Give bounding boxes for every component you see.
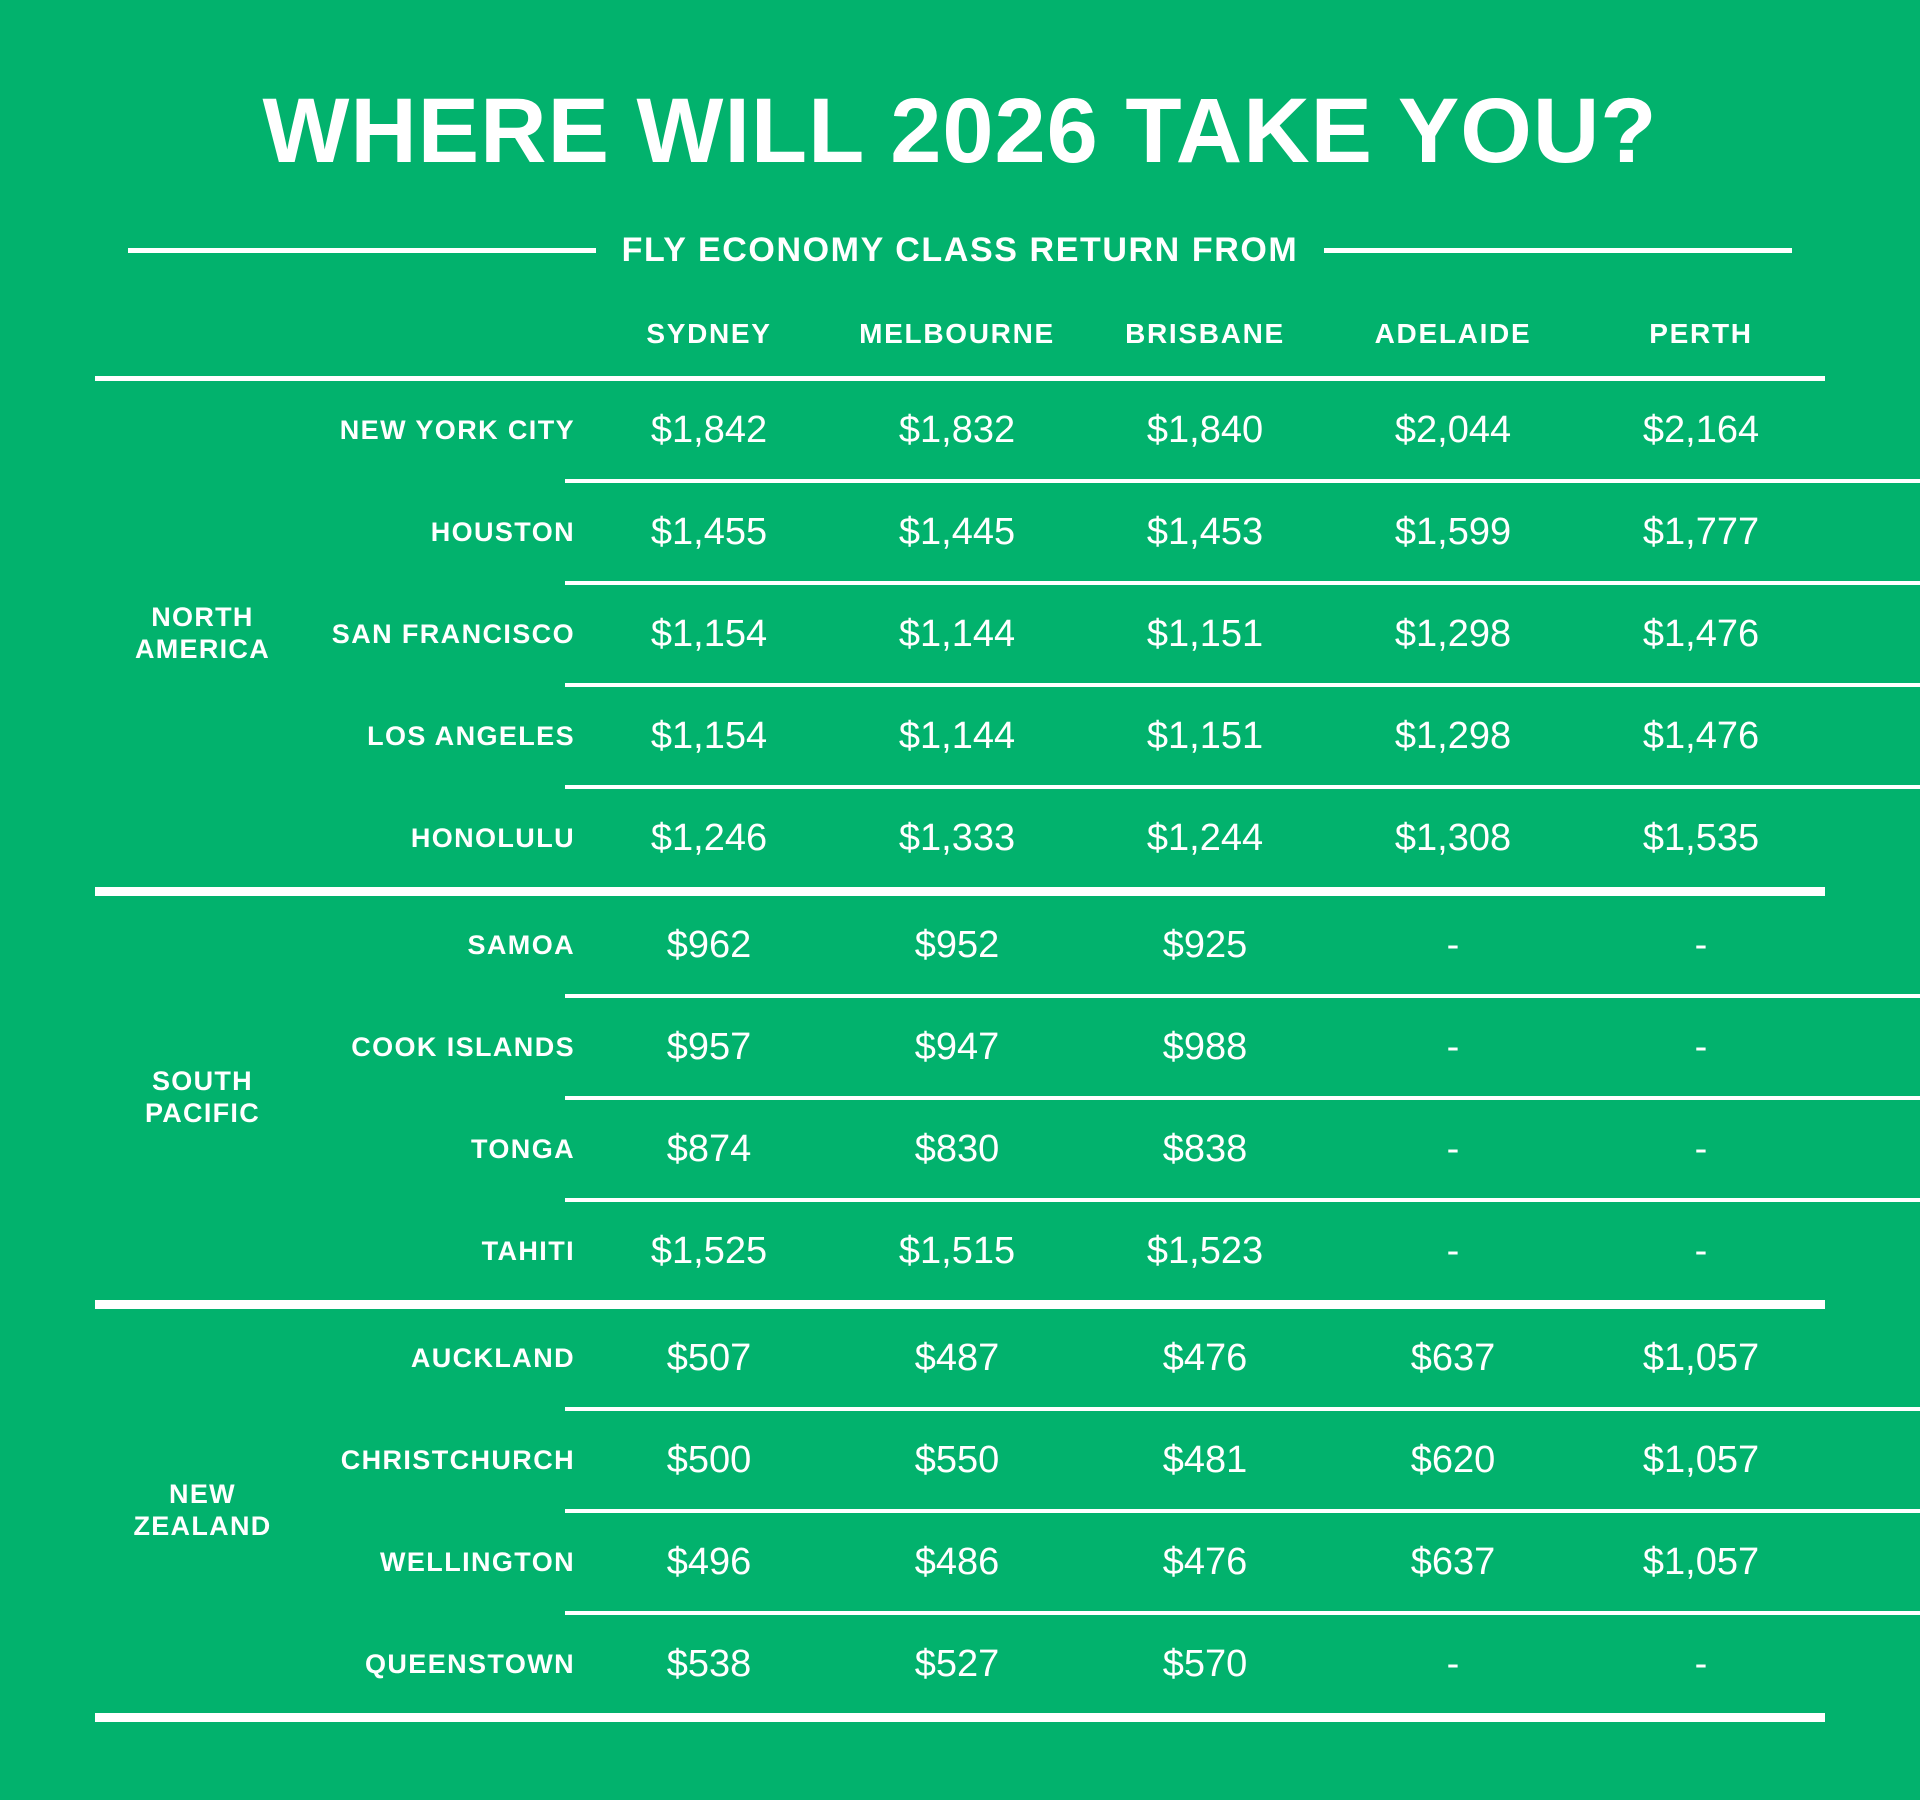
destination-city: SAMOA — [310, 896, 585, 994]
table-head: SYDNEY MELBOURNE BRISBANE ADELAIDE PERTH — [95, 318, 1825, 376]
fare-price: $1,842 — [585, 381, 833, 479]
fare-price: $1,525 — [585, 1202, 833, 1300]
table-body: NORTHAMERICANEW YORK CITY$1,842$1,832$1,… — [95, 376, 1825, 1722]
fare-unavailable: - — [1577, 1615, 1825, 1713]
fare-price: $1,154 — [585, 585, 833, 683]
fare-unavailable: - — [1329, 1202, 1577, 1300]
region-label-line2: AMERICA — [135, 634, 270, 666]
fare-price: $637 — [1329, 1309, 1577, 1407]
fares-table-wrapper: SYDNEY MELBOURNE BRISBANE ADELAIDE PERTH… — [95, 318, 1825, 1722]
section-divider — [95, 1300, 1825, 1309]
region-column-header — [95, 318, 310, 376]
fare-price: $838 — [1081, 1100, 1329, 1198]
fare-price: $570 — [1081, 1615, 1329, 1713]
region-label-line2: PACIFIC — [145, 1098, 260, 1130]
region-label-text: NEW ZEALAND — [95, 1479, 310, 1543]
poster-root: WHERE WILL 2026 TAKE YOU? FLY ECONOMY CL… — [0, 0, 1920, 1800]
column-header-perth: PERTH — [1577, 318, 1825, 376]
fare-price: $507 — [585, 1309, 833, 1407]
region-label-3: NEW ZEALAND — [95, 1309, 310, 1713]
fare-price: $957 — [585, 998, 833, 1096]
fare-price: $1,445 — [833, 483, 1081, 581]
fare-price: $1,535 — [1577, 789, 1825, 887]
fare-price: $1,832 — [833, 381, 1081, 479]
fare-price: $1,333 — [833, 789, 1081, 887]
section-divider-line — [95, 887, 1825, 896]
fare-price: $962 — [585, 896, 833, 994]
region-label-text: NORTHAMERICA — [129, 602, 276, 666]
table-row: CHRISTCHURCH$500$550$481$620$1,057 — [95, 1411, 1825, 1509]
fare-price: $1,298 — [1329, 585, 1577, 683]
fare-price: $1,151 — [1081, 687, 1329, 785]
subtitle-banner: FLY ECONOMY CLASS RETURN FROM — [128, 231, 1792, 270]
fare-price: $947 — [833, 998, 1081, 1096]
fare-price: $1,244 — [1081, 789, 1329, 887]
column-header-adelaide: ADELAIDE — [1329, 318, 1577, 376]
fare-unavailable: - — [1329, 1615, 1577, 1713]
table-row: NEW ZEALANDAUCKLAND$507$487$476$637$1,05… — [95, 1309, 1825, 1407]
table-bottom-divider-line — [95, 1713, 1825, 1722]
destination-city: HOUSTON — [310, 483, 585, 581]
table-row: QUEENSTOWN$538$527$570-- — [95, 1615, 1825, 1713]
fare-price: $1,144 — [833, 687, 1081, 785]
subtitle-text: FLY ECONOMY CLASS RETURN FROM — [622, 231, 1299, 270]
page-title: WHERE WILL 2026 TAKE YOU? — [0, 0, 1920, 177]
table-row: COOK ISLANDS$957$947$988-- — [95, 998, 1825, 1096]
fare-price: $2,044 — [1329, 381, 1577, 479]
destination-city: TAHITI — [310, 1202, 585, 1300]
table-row: TAHITI$1,525$1,515$1,523-- — [95, 1202, 1825, 1300]
fare-price: $538 — [585, 1615, 833, 1713]
fare-price: $486 — [833, 1513, 1081, 1611]
fare-price: $1,453 — [1081, 483, 1329, 581]
table-row: SAN FRANCISCO$1,154$1,144$1,151$1,298$1,… — [95, 585, 1825, 683]
fares-table: SYDNEY MELBOURNE BRISBANE ADELAIDE PERTH… — [95, 318, 1825, 1722]
destination-city: TONGA — [310, 1100, 585, 1198]
table-bottom-divider-cell — [95, 1713, 1825, 1722]
fare-price: $1,840 — [1081, 381, 1329, 479]
fare-price: $1,476 — [1577, 585, 1825, 683]
destination-city: AUCKLAND — [310, 1309, 585, 1407]
column-header-sydney: SYDNEY — [585, 318, 833, 376]
fare-price: $1,476 — [1577, 687, 1825, 785]
destination-city: NEW YORK CITY — [310, 381, 585, 479]
table-row: NORTHAMERICANEW YORK CITY$1,842$1,832$1,… — [95, 381, 1825, 479]
table-row: SOUTHPACIFICSAMOA$962$952$925-- — [95, 896, 1825, 994]
fare-price: $874 — [585, 1100, 833, 1198]
fare-price: $925 — [1081, 896, 1329, 994]
fare-price: $476 — [1081, 1309, 1329, 1407]
destination-city: SAN FRANCISCO — [310, 585, 585, 683]
subtitle-rule-right — [1324, 248, 1792, 253]
fare-price: $1,777 — [1577, 483, 1825, 581]
destination-city: WELLINGTON — [310, 1513, 585, 1611]
fare-price: $1,057 — [1577, 1513, 1825, 1611]
fare-price: $496 — [585, 1513, 833, 1611]
destination-city: COOK ISLANDS — [310, 998, 585, 1096]
fare-price: $500 — [585, 1411, 833, 1509]
fare-price: $1,523 — [1081, 1202, 1329, 1300]
fare-price: $1,246 — [585, 789, 833, 887]
fare-price: $1,599 — [1329, 483, 1577, 581]
region-label-1: NORTHAMERICA — [95, 381, 310, 887]
fare-price: $476 — [1081, 1513, 1329, 1611]
table-row: TONGA$874$830$838-- — [95, 1100, 1825, 1198]
table-row: HOUSTON$1,455$1,445$1,453$1,599$1,777 — [95, 483, 1825, 581]
column-header-row: SYDNEY MELBOURNE BRISBANE ADELAIDE PERTH — [95, 318, 1825, 376]
fare-price: $481 — [1081, 1411, 1329, 1509]
fare-price: $550 — [833, 1411, 1081, 1509]
fare-price: $1,515 — [833, 1202, 1081, 1300]
fare-price: $1,057 — [1577, 1411, 1825, 1509]
fare-price: $1,154 — [585, 687, 833, 785]
fare-price: $2,164 — [1577, 381, 1825, 479]
fare-price: $1,298 — [1329, 687, 1577, 785]
destination-city: QUEENSTOWN — [310, 1615, 585, 1713]
fare-unavailable: - — [1329, 896, 1577, 994]
fare-price: $1,308 — [1329, 789, 1577, 887]
region-label-line1: NORTH — [135, 602, 270, 634]
section-divider-line — [95, 1300, 1825, 1309]
fare-price: $637 — [1329, 1513, 1577, 1611]
fare-price: $1,455 — [585, 483, 833, 581]
city-column-header — [310, 318, 585, 376]
fare-unavailable: - — [1577, 1202, 1825, 1300]
region-label-2: SOUTHPACIFIC — [95, 896, 310, 1300]
fare-price: $527 — [833, 1615, 1081, 1713]
table-row: WELLINGTON$496$486$476$637$1,057 — [95, 1513, 1825, 1611]
section-divider-cell — [95, 887, 1825, 896]
section-divider — [95, 887, 1825, 896]
column-header-melbourne: MELBOURNE — [833, 318, 1081, 376]
fare-price: $1,057 — [1577, 1309, 1825, 1407]
fare-unavailable: - — [1577, 1100, 1825, 1198]
fare-unavailable: - — [1329, 998, 1577, 1096]
region-label-text: SOUTHPACIFIC — [139, 1066, 266, 1130]
subtitle-rule-left — [128, 248, 596, 253]
fare-unavailable: - — [1577, 998, 1825, 1096]
fare-price: $487 — [833, 1309, 1081, 1407]
fare-price: $620 — [1329, 1411, 1577, 1509]
fare-price: $1,151 — [1081, 585, 1329, 683]
table-row: HONOLULU$1,246$1,333$1,244$1,308$1,535 — [95, 789, 1825, 887]
fare-price: $830 — [833, 1100, 1081, 1198]
region-label-line1: SOUTH — [145, 1066, 260, 1098]
column-header-brisbane: BRISBANE — [1081, 318, 1329, 376]
fare-unavailable: - — [1329, 1100, 1577, 1198]
destination-city: CHRISTCHURCH — [310, 1411, 585, 1509]
table-row: LOS ANGELES$1,154$1,144$1,151$1,298$1,47… — [95, 687, 1825, 785]
table-bottom-divider — [95, 1713, 1825, 1722]
fare-price: $952 — [833, 896, 1081, 994]
fare-price: $988 — [1081, 998, 1329, 1096]
fare-price: $1,144 — [833, 585, 1081, 683]
section-divider-cell — [95, 1300, 1825, 1309]
destination-city: LOS ANGELES — [310, 687, 585, 785]
destination-city: HONOLULU — [310, 789, 585, 887]
fare-unavailable: - — [1577, 896, 1825, 994]
